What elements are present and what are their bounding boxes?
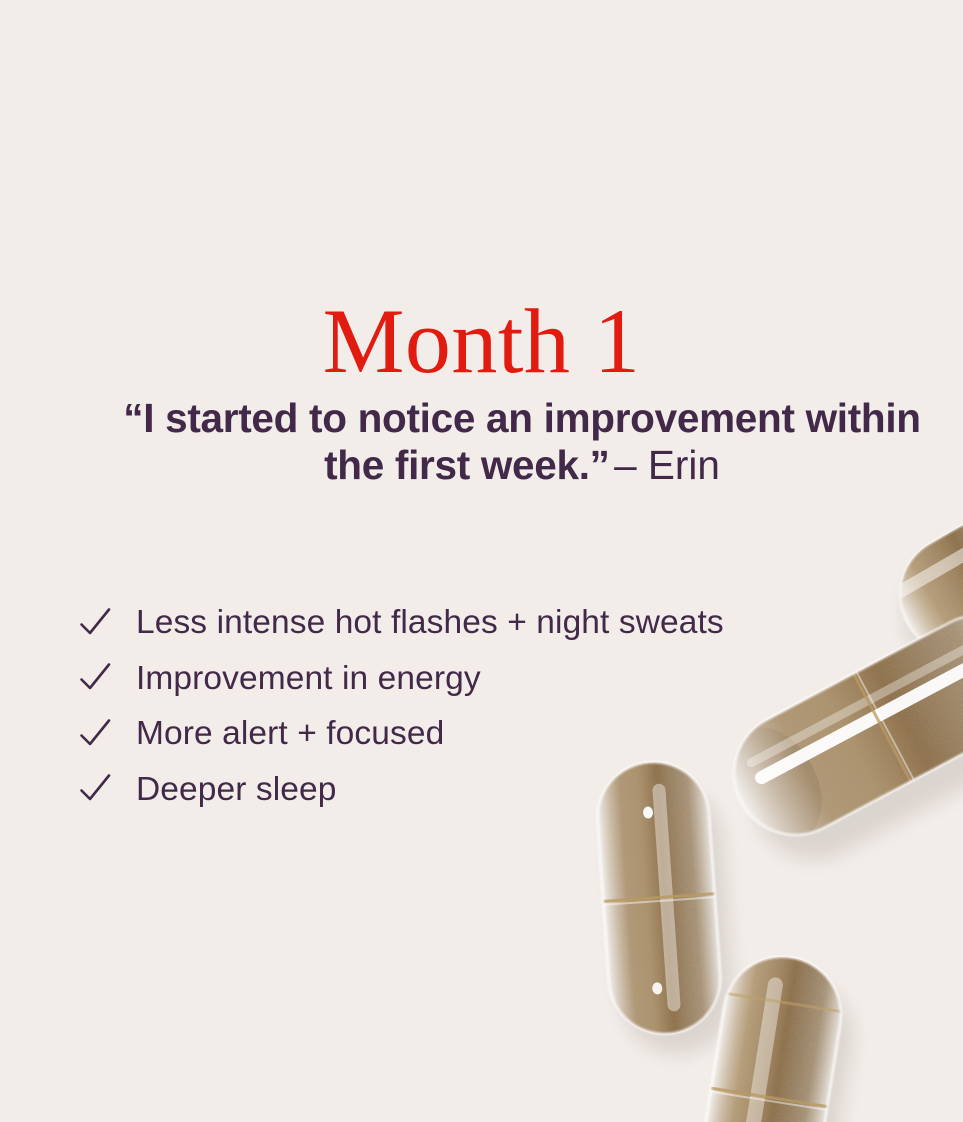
testimonial-attribution: – Erin (614, 442, 720, 488)
list-item: Less intense hot flashes + night sweats (78, 595, 908, 651)
checkmark-icon (78, 717, 112, 751)
page-title: Month 1 (0, 295, 963, 387)
list-item: Deeper sleep (78, 762, 908, 818)
benefit-label: Deeper sleep (136, 773, 336, 807)
month-1-testimonial-card: Month 1 “I started to notice an improvem… (0, 0, 963, 1122)
benefit-label: More alert + focused (136, 717, 444, 751)
list-item: Improvement in energy (78, 651, 908, 707)
benefit-label: Less intense hot flashes + night sweats (136, 606, 724, 640)
list-item: More alert + focused (78, 706, 908, 762)
checkmark-icon (78, 606, 112, 640)
checkmark-icon (78, 772, 112, 806)
benefit-label: Improvement in energy (136, 662, 481, 696)
checkmark-icon (78, 661, 112, 695)
testimonial-quote: “I started to notice an improvement with… (112, 395, 932, 490)
testimonial-quote-text: “I started to notice an improvement with… (123, 395, 921, 488)
benefits-list: Less intense hot flashes + night sweats … (78, 595, 908, 817)
